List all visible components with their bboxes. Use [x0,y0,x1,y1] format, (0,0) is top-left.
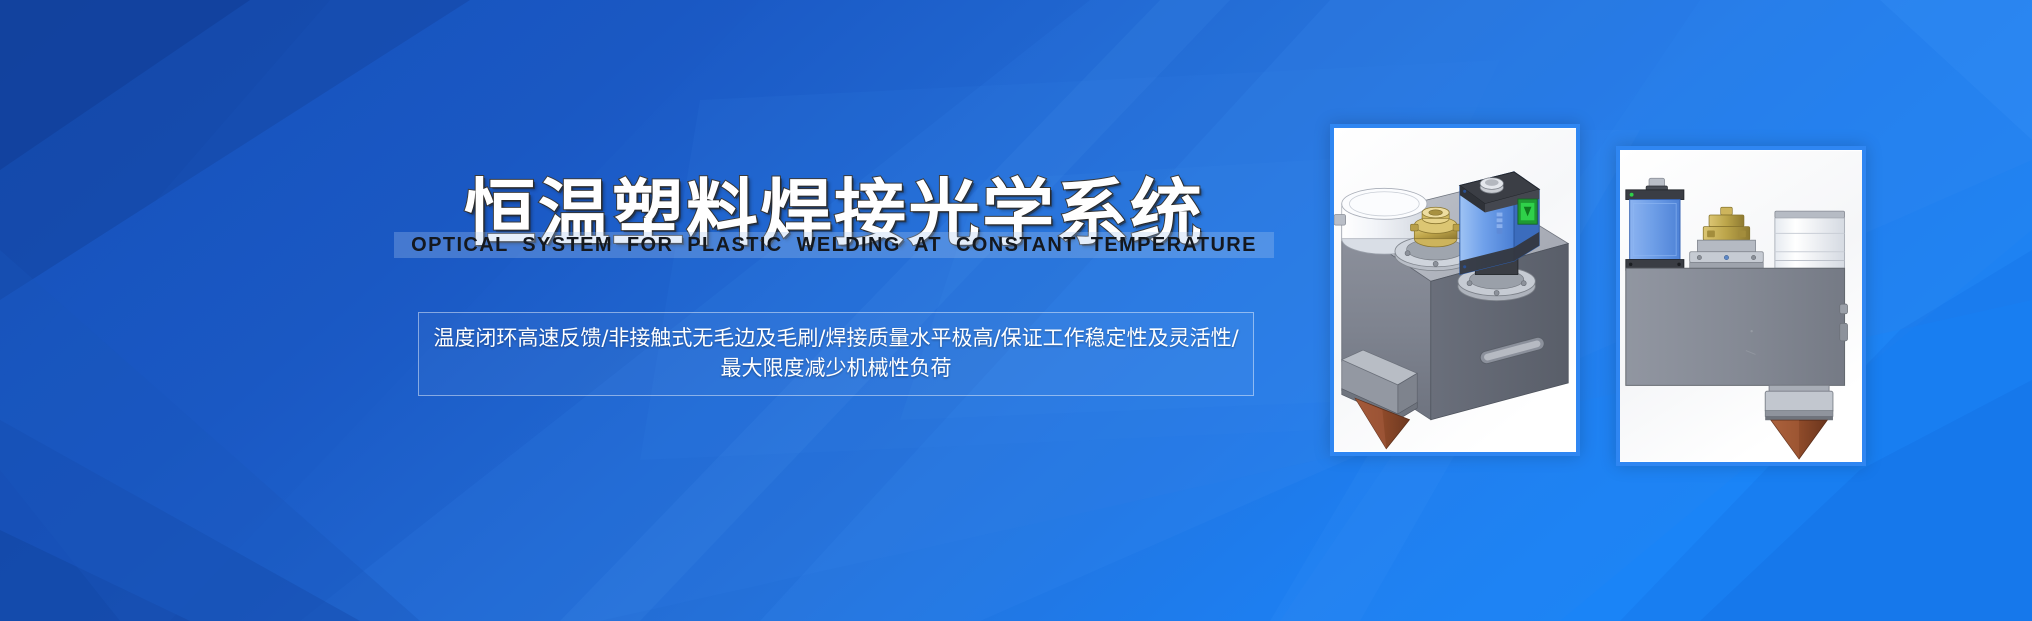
promo-banner: 恒温塑料焊接光学系统 OPTICAL SYSTEM FOR PLASTIC WE… [0,0,2032,621]
subtitle-band: OPTICAL SYSTEM FOR PLASTIC WELDING AT CO… [394,232,1274,258]
title-stack: 恒温塑料焊接光学系统 OPTICAL SYSTEM FOR PLASTIC WE… [394,180,1274,270]
description-line-1: 温度闭环高速反馈/非接触式无毛边及毛刷/焊接质量水平极高/保证工作稳定性及灵活性… [433,323,1239,353]
feature-description-box: 温度闭环高速反馈/非接触式无毛边及毛刷/焊接质量水平极高/保证工作稳定性及灵活性… [418,312,1254,396]
product-image-isometric-welding-head[interactable] [1330,124,1580,456]
product-image-front-welding-head[interactable] [1616,146,1866,466]
page-subtitle-english: OPTICAL SYSTEM FOR PLASTIC WELDING AT CO… [411,232,1257,258]
headline-block: 恒温塑料焊接光学系统 OPTICAL SYSTEM FOR PLASTIC WE… [394,180,1274,270]
description-line-2: 最大限度减少机械性负荷 [433,353,1239,383]
